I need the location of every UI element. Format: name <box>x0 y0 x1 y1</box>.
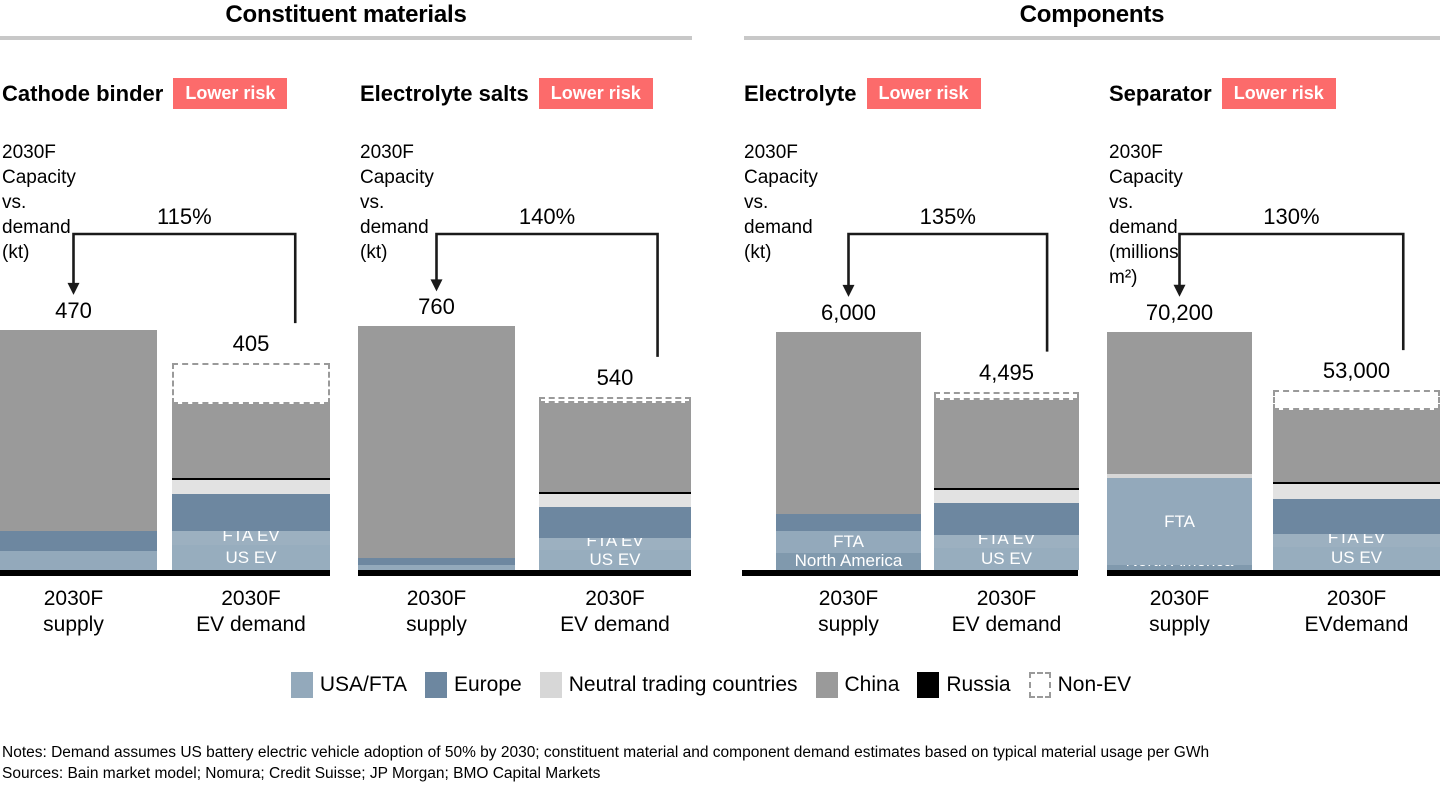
sources-text: Sources: Bain market model; Nomura; Cred… <box>2 763 1438 784</box>
legend-swatch-icon <box>291 672 313 698</box>
axis-baseline <box>0 570 330 576</box>
segment-label: US EV <box>1273 549 1440 567</box>
group-title: Components <box>744 0 1440 30</box>
legend-label: Non-EV <box>1058 673 1132 697</box>
ratio-connector <box>742 220 1078 520</box>
bar-segment <box>358 558 515 565</box>
x-axis-tick-label: 2030F EVdemand <box>1243 586 1440 638</box>
legend-item[interactable]: Russia <box>917 672 1010 698</box>
plot-area: 4702030F supplyUS EVFTA EV4052030F EV de… <box>0 220 330 576</box>
panel-header: Cathode binderLower risk <box>2 78 287 109</box>
panel-title: Separator <box>1109 80 1212 108</box>
legend-item[interactable]: Neutral trading countries <box>540 672 798 698</box>
group-title: Constituent materials <box>0 0 692 30</box>
x-axis-tick-label: 2030F EV demand <box>509 586 721 638</box>
panel-title: Cathode binder <box>2 80 163 108</box>
legend-item[interactable]: USA/FTA <box>291 672 407 698</box>
risk-badge: Lower risk <box>173 78 287 109</box>
ratio-connector <box>0 220 330 520</box>
bar-segment <box>0 531 157 550</box>
axis-baseline <box>358 570 691 576</box>
legend-item[interactable]: Europe <box>425 672 522 698</box>
ratio-connector <box>358 220 691 520</box>
legend-label: Neutral trading countries <box>569 673 798 697</box>
segment-label: US EV <box>539 551 691 569</box>
ratio-label: 135% <box>809 204 1088 230</box>
panel-title: Electrolyte salts <box>360 80 529 108</box>
segment-label: US EV <box>934 550 1079 568</box>
plot-area: North AmericaFTA70,2002030F supplyUS EVF… <box>1107 220 1440 576</box>
group-rule <box>0 36 692 40</box>
legend-label: Russia <box>946 673 1010 697</box>
panel-header: Electrolyte saltsLower risk <box>360 78 653 109</box>
group-rule <box>744 36 1440 40</box>
legend-swatch-icon <box>917 672 939 698</box>
ratio-connector <box>1107 220 1440 520</box>
risk-badge: Lower risk <box>867 78 981 109</box>
legend-item[interactable]: China <box>816 672 900 698</box>
axis-baseline <box>1107 570 1440 576</box>
legend-item[interactable]: Non-EV <box>1029 672 1132 698</box>
segment-label: FTA <box>776 533 921 551</box>
panel-title: Electrolyte <box>744 80 857 108</box>
group-header-constituent-materials: Constituent materials <box>0 0 692 48</box>
plot-area: 7602030F supplyUS EVFTA EV5402030F EV de… <box>358 220 691 576</box>
legend-swatch-icon <box>816 672 838 698</box>
plot-area: North AmericaFTA6,0002030F supplyUS EVFT… <box>742 220 1078 576</box>
group-header-components: Components <box>744 0 1440 48</box>
chart-page: Constituent materials Components Cathode… <box>0 0 1440 810</box>
chart-legend: USA/FTAEuropeNeutral trading countriesCh… <box>0 672 1440 698</box>
legend-label: Europe <box>454 673 522 697</box>
footer-notes: Notes: Demand assumes US battery electri… <box>2 742 1438 784</box>
legend-swatch-icon <box>540 672 562 698</box>
bar-segment <box>0 551 157 570</box>
risk-badge: Lower risk <box>1222 78 1336 109</box>
ratio-label: 140% <box>397 204 698 230</box>
notes-text: Notes: Demand assumes US battery electri… <box>2 742 1438 763</box>
panel-header: SeparatorLower risk <box>1109 78 1336 109</box>
segment-label: US EV <box>172 549 330 567</box>
legend-swatch-icon <box>425 672 447 698</box>
bar-segment <box>358 565 515 570</box>
legend-swatch-icon <box>1029 672 1051 698</box>
axis-baseline <box>742 570 1078 576</box>
panel-header: ElectrolyteLower risk <box>744 78 981 109</box>
ratio-label: 115% <box>34 204 336 230</box>
legend-label: USA/FTA <box>320 673 407 697</box>
risk-badge: Lower risk <box>539 78 653 109</box>
ratio-label: 130% <box>1140 204 1440 230</box>
segment-label: North America <box>776 552 921 570</box>
legend-label: China <box>845 673 900 697</box>
